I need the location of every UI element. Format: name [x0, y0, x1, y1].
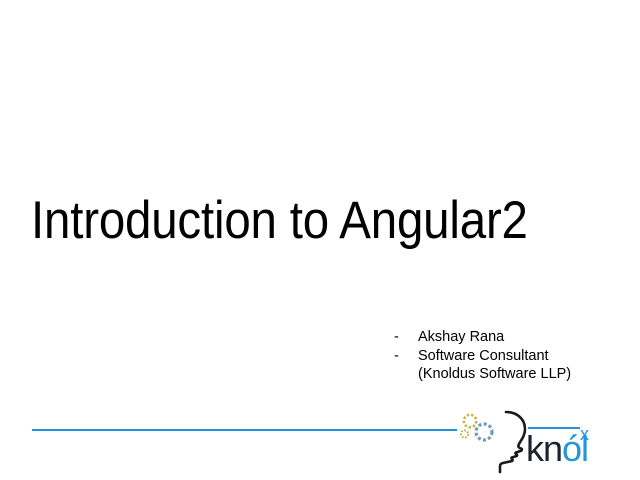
- list-item: - Akshay Rana: [394, 328, 634, 347]
- presentation-slide: Introduction to Angular2 - Akshay Rana -…: [0, 0, 640, 480]
- list-item-label: Software Consultant: [418, 347, 634, 366]
- wordmark-dark-part: kn: [526, 428, 562, 469]
- gear-icon: [464, 415, 476, 427]
- page-title: Introduction to Angular2: [31, 192, 559, 250]
- dash-bullet-icon: -: [394, 347, 418, 366]
- wordmark-text: knól: [526, 430, 588, 468]
- knoldus-logo: knól x: [456, 408, 636, 480]
- list-item-label: (Knoldus Software LLP): [418, 365, 634, 384]
- list-item: - Software Consultant: [394, 347, 634, 366]
- blue-divider-rule: [32, 429, 457, 431]
- list-item-label: Akshay Rana: [418, 328, 634, 347]
- list-item: (Knoldus Software LLP): [394, 365, 634, 384]
- gear-icon: [461, 430, 468, 437]
- author-byline-list: - Akshay Rana - Software Consultant (Kno…: [394, 328, 634, 384]
- gear-icon: [476, 424, 492, 440]
- wordmark-superscript: x: [580, 425, 589, 443]
- dash-bullet-icon: -: [394, 328, 418, 347]
